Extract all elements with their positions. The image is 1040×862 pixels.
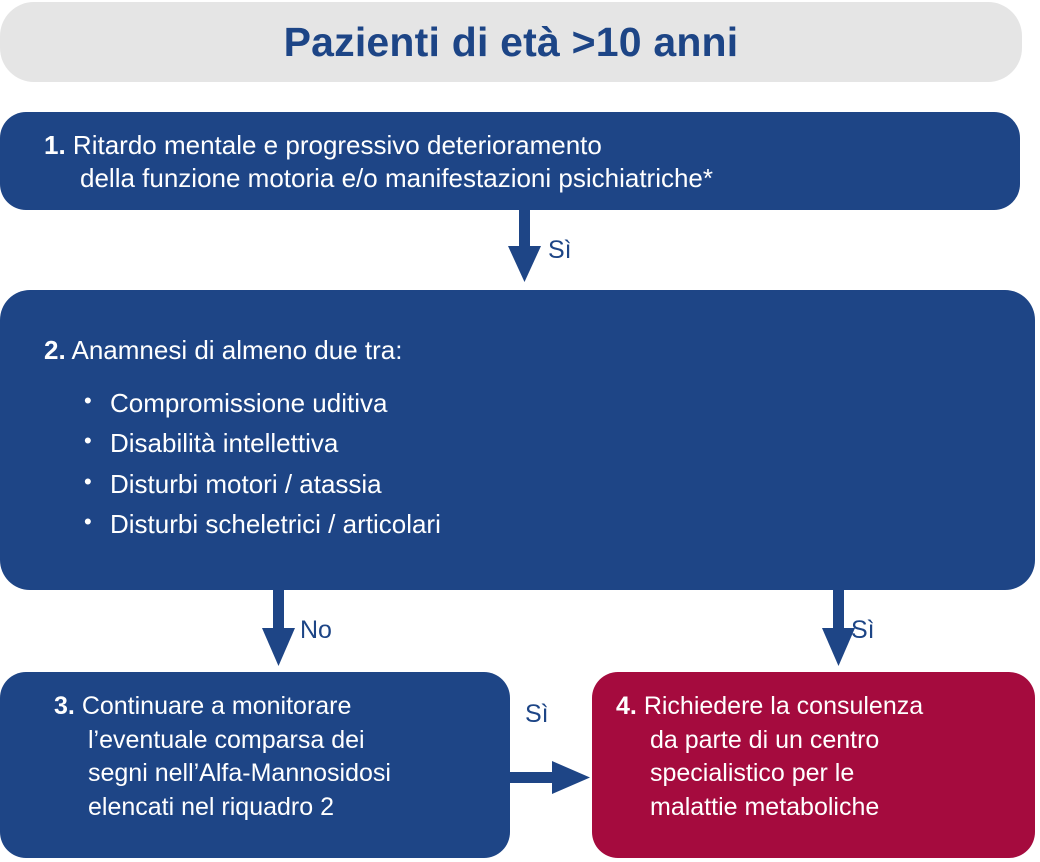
page-title: Pazienti di età >10 anni: [284, 22, 739, 63]
step-box-4: 4. Richiedere la consulenzada parte di u…: [592, 672, 1035, 858]
arrow-box2-to-box3: [247, 590, 307, 674]
step-box-4-number: 4.: [616, 692, 637, 720]
step-box-3: 3. Continuare a monitorarel’eventuale co…: [0, 672, 510, 858]
edge-label-box3-to-box4: Sì: [525, 702, 549, 727]
edge-label-box2-to-box3: No: [300, 618, 332, 643]
list-item: Disabilità intellettiva: [80, 423, 1015, 463]
edge-label-box2-to-box4: Sì: [851, 618, 875, 643]
step-box-1-number: 1.: [44, 130, 66, 160]
arrow-box1-to-box2: [494, 210, 554, 290]
step-box-3-line2: l’eventuale comparsa dei: [54, 724, 496, 758]
step-box-1-line2: della funzione motoria e/o manifestazion…: [44, 162, 1000, 195]
step-box-2: 2. Anamnesi di almeno due tra: Compromis…: [0, 290, 1035, 590]
step-box-1: 1. Ritardo mentale e progressivo deterio…: [0, 112, 1020, 210]
list-item: Compromissione uditiva: [80, 383, 1015, 423]
arrow-box3-to-box4: [510, 756, 594, 800]
list-item: Disturbi motori / atassia: [80, 464, 1015, 504]
chart-header-band: Pazienti di età >10 anni: [0, 2, 1022, 82]
step-box-3-number: 3.: [54, 692, 75, 720]
step-box-4-line3: specialistico per le: [616, 757, 1025, 791]
list-item: Disturbi scheletrici / articolari: [80, 504, 1015, 544]
step-box-1-line1: Ritardo mentale e progressivo deterioram…: [73, 130, 602, 160]
step-box-3-text: 3. Continuare a monitorarel’eventuale co…: [54, 690, 496, 824]
step-box-3-line3: segni nell’Alfa-Mannosidosi: [54, 757, 496, 791]
edge-label-box1-to-box2: Sì: [548, 238, 572, 263]
step-box-4-line1: Richiedere la consulenza: [644, 692, 923, 720]
step-box-3-content: 3. Continuare a monitorarel’eventuale co…: [54, 690, 496, 824]
step-box-2-heading: 2. Anamnesi di almeno due tra:: [44, 335, 1015, 366]
step-box-2-criteria-list: Compromissione uditiva Disabilità intell…: [44, 383, 1015, 544]
step-box-2-heading-text: Anamnesi di almeno due tra:: [71, 335, 402, 365]
step-box-3-line4: elencati nel riquadro 2: [54, 791, 496, 825]
step-box-4-text: 4. Richiedere la consulenzada parte di u…: [616, 690, 1025, 824]
step-box-4-content: 4. Richiedere la consulenzada parte di u…: [616, 690, 1025, 824]
step-box-1-content: 1. Ritardo mentale e progressivo deterio…: [44, 129, 1000, 196]
flowchart-canvas: Pazienti di età >10 anni 1. Ritardo ment…: [0, 0, 1040, 862]
step-box-3-line1: Continuare a monitorare: [82, 692, 352, 720]
step-box-4-line2: da parte di un centro: [616, 724, 1025, 758]
step-box-2-content: 2. Anamnesi di almeno due tra: Compromis…: [44, 335, 1015, 544]
step-box-2-number: 2.: [44, 335, 66, 365]
step-box-4-line4: malattie metaboliche: [616, 791, 1025, 825]
step-box-1-text: 1. Ritardo mentale e progressivo deterio…: [44, 129, 1000, 196]
